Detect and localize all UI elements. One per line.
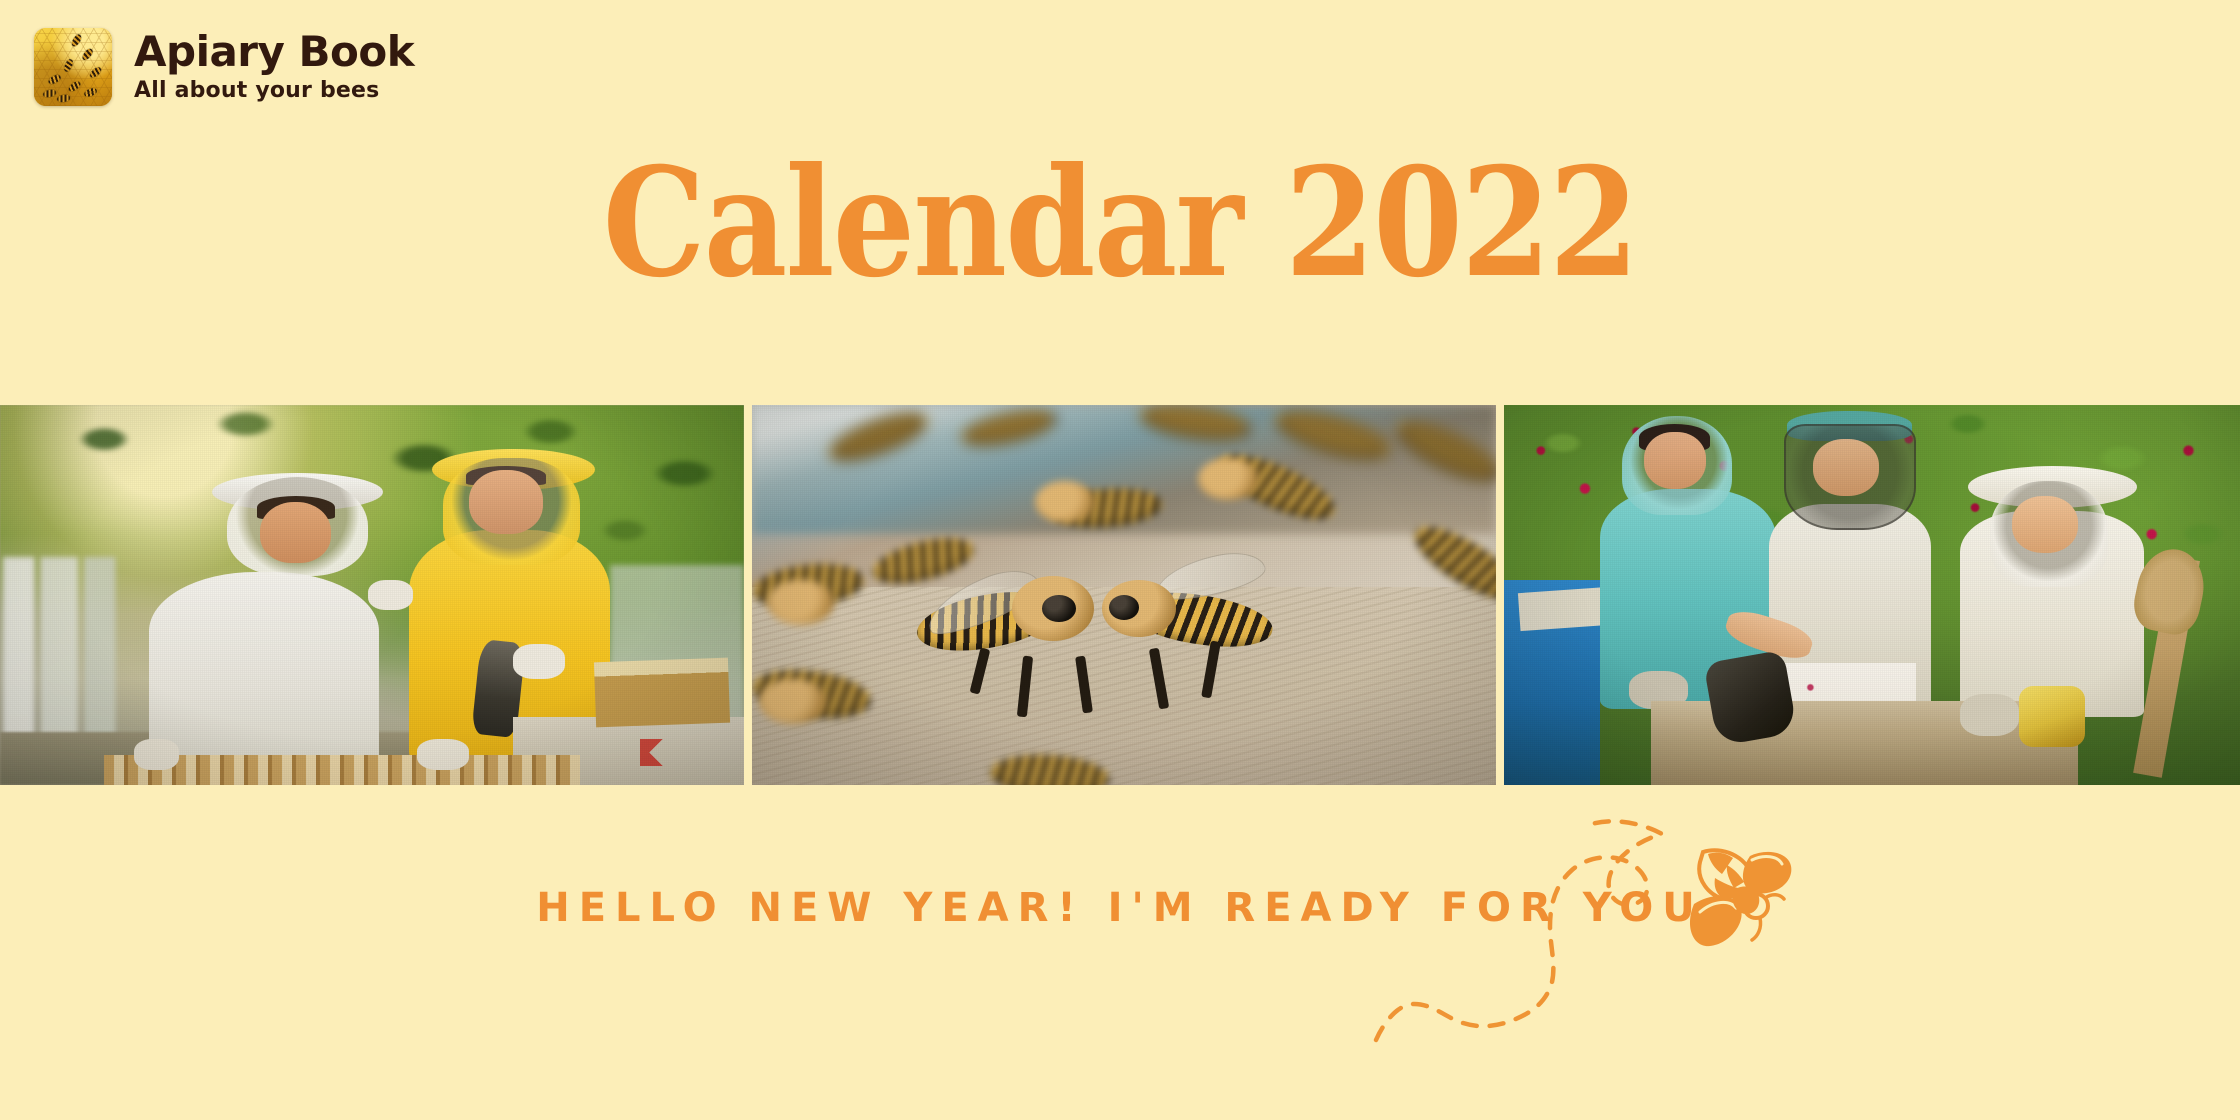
footer-tagline: HELLO NEW YEAR! I'M READY FOR YOU	[0, 885, 2240, 931]
footer: HELLO NEW YEAR! I'M READY FOR YOU	[0, 785, 2240, 1120]
brand-tagline: All about your bees	[134, 78, 414, 103]
brand-title: Apiary Book	[134, 31, 414, 74]
flying-bee-icon	[1672, 838, 1792, 956]
photo-honeybees-macro	[752, 405, 1496, 785]
honeycomb-bees-icon	[34, 28, 112, 106]
brand-text-block: Apiary Book All about your bees	[134, 31, 414, 103]
photo-young-beekeepers	[1504, 405, 2240, 785]
photo-beekeepers-pair	[0, 405, 744, 785]
photo-strip	[0, 405, 2240, 785]
brand-logo[interactable]: Apiary Book All about your bees	[34, 28, 414, 106]
page-title: Calendar 2022	[157, 148, 2083, 298]
